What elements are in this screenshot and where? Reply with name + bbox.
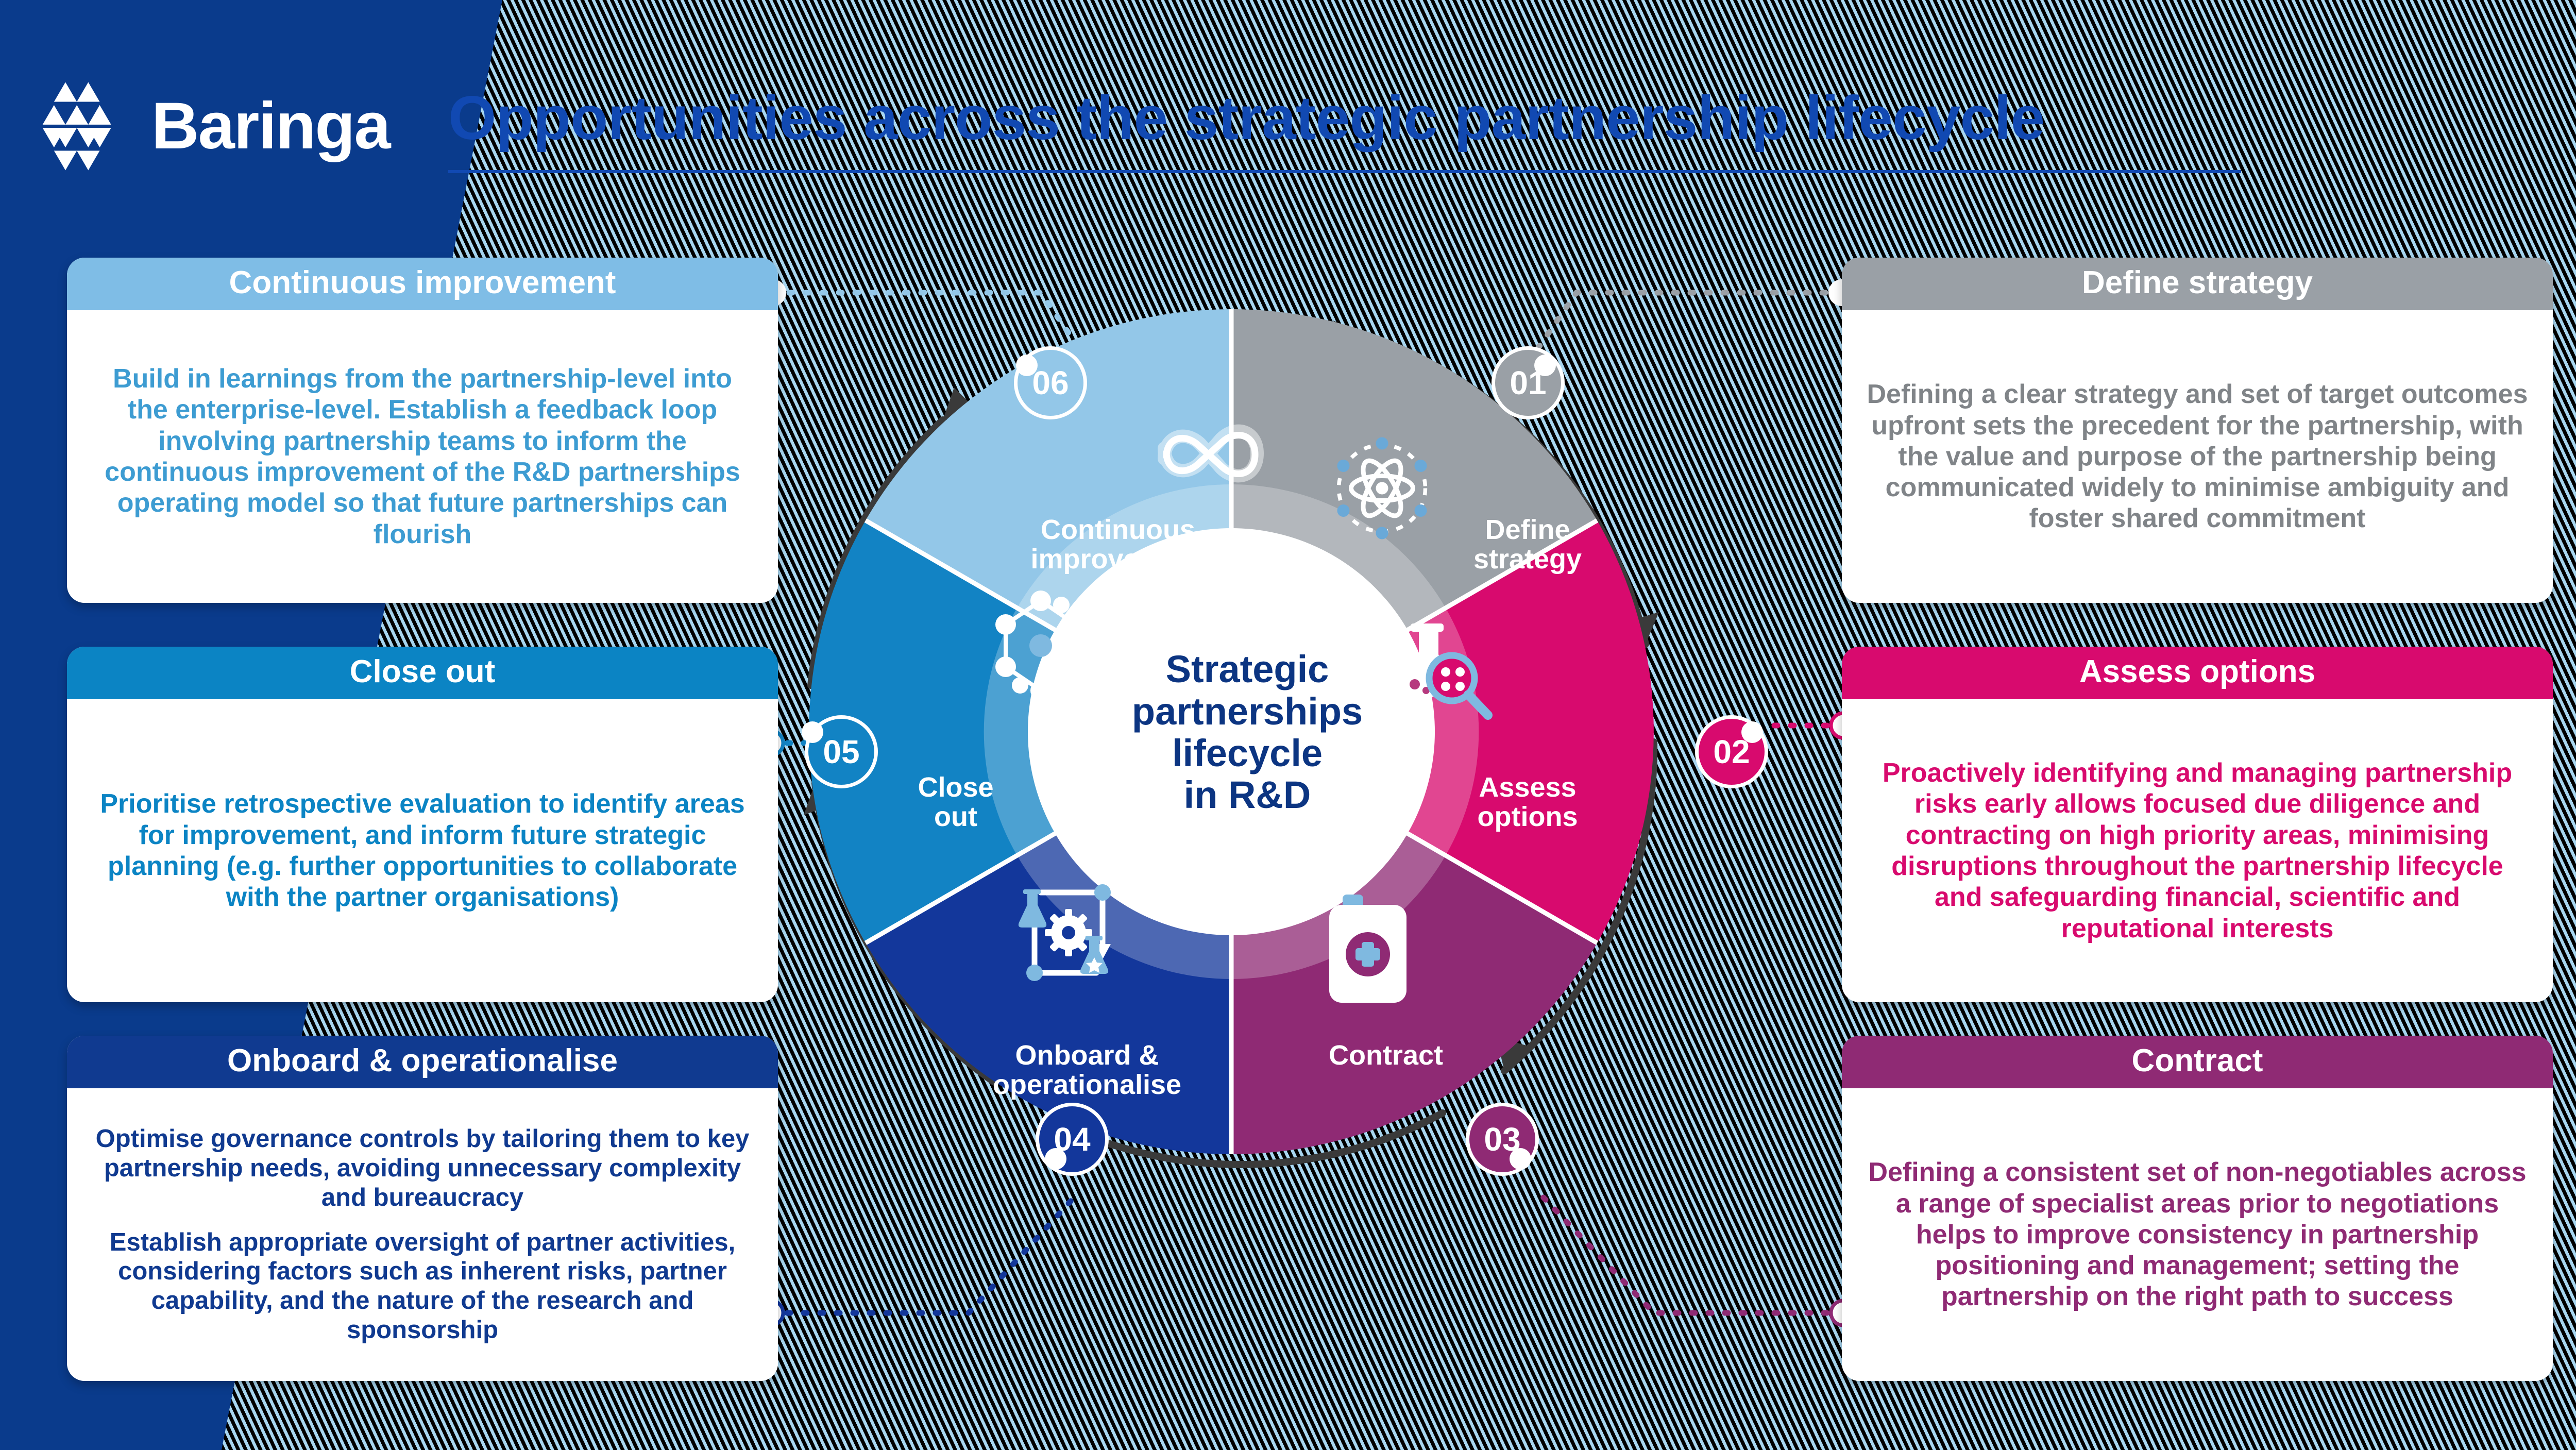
wheel-number-03-dot — [1510, 1148, 1531, 1170]
wheel-number-01-dot — [1534, 355, 1556, 376]
card-body: Optimise governance controls by tailorin… — [67, 1088, 778, 1381]
card-contract[interactable]: Contract Defining a consistent set of no… — [1842, 1036, 2553, 1381]
card-paragraph: Defining a clear strategy and set of tar… — [1865, 379, 2530, 534]
card-title: Onboard & operationalise — [67, 1036, 778, 1088]
card-title: Close out — [67, 647, 778, 699]
baringa-triangles-logo-icon — [36, 77, 134, 175]
card-title: Define strategy — [1842, 258, 2553, 310]
card-onboard-operationalise[interactable]: Onboard & operationalise Optimise govern… — [67, 1036, 778, 1381]
card-body: Proactively identifying and managing par… — [1842, 699, 2553, 1002]
card-body: Build in learnings from the partnership-… — [67, 310, 778, 603]
card-paragraph: Optimise governance controls by tailorin… — [86, 1124, 759, 1212]
card-paragraph: Defining a consistent set of non-negotia… — [1865, 1157, 2530, 1312]
card-define-strategy[interactable]: Define strategy Defining a clear strateg… — [1842, 258, 2553, 603]
page-title: Opportunities across the strategic partn… — [448, 82, 2044, 154]
wheel-number-05-dot — [802, 721, 823, 743]
card-assess-options[interactable]: Assess options Proactively identifying a… — [1842, 647, 2553, 1002]
title-underline — [448, 170, 2241, 173]
card-paragraph: Build in learnings from the partnership-… — [90, 363, 755, 550]
card-continuous-improvement[interactable]: Continuous improvement Build in learning… — [67, 258, 778, 603]
wheel-number-02-dot — [1741, 721, 1763, 743]
card-body: Defining a consistent set of non-negotia… — [1842, 1088, 2553, 1381]
brand-logo: Baringa — [36, 77, 390, 175]
card-paragraph: Prioritise retrospective evaluation to i… — [90, 788, 755, 913]
infographic-canvas: Baringa Opportunities across the strateg… — [0, 0, 2576, 1450]
clipboard-plus-icon — [1329, 895, 1406, 1003]
card-paragraph: Establish appropriate oversight of partn… — [86, 1228, 759, 1345]
wheel-hub-label: Strategic partnerships lifecycle in R&D — [1147, 632, 1348, 833]
card-body: Defining a clear strategy and set of tar… — [1842, 310, 2553, 603]
card-title: Continuous improvement — [67, 258, 778, 310]
card-paragraph: Proactively identifying and managing par… — [1865, 757, 2530, 944]
card-body: Prioritise retrospective evaluation to i… — [67, 699, 778, 1002]
card-title: Assess options — [1842, 647, 2553, 699]
wheel-number-01[interactable]: 01 — [1492, 346, 1565, 419]
brand-name: Baringa — [151, 93, 390, 159]
wheel-number-06-dot — [1016, 355, 1038, 376]
wheel-number-04-dot — [1045, 1148, 1066, 1170]
card-title: Contract — [1842, 1036, 2553, 1088]
card-close-out[interactable]: Close out Prioritise retrospective evalu… — [67, 647, 778, 1002]
